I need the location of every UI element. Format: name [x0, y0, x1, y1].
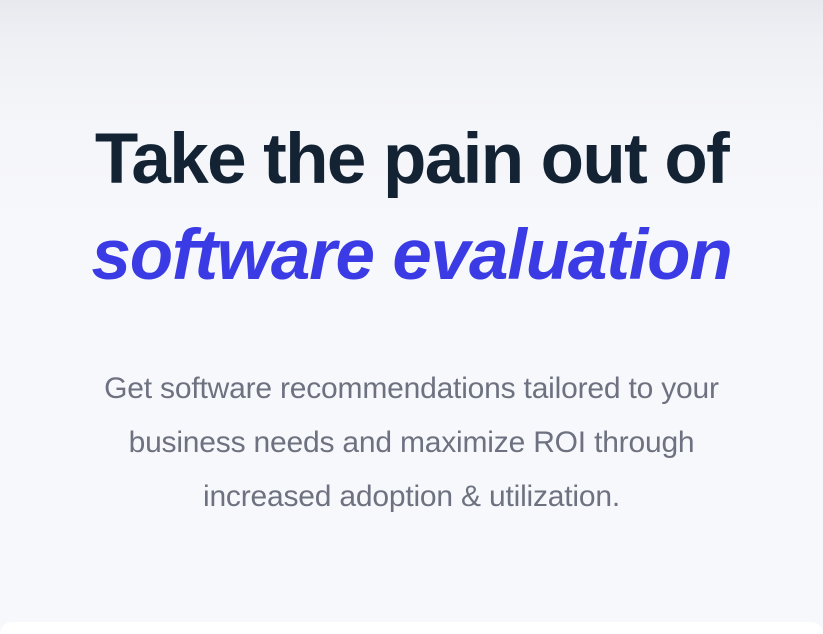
- subcopy-line-2: business needs and maximize ROI through: [0, 416, 823, 470]
- hero-section: Take the pain out of software evaluation…: [0, 0, 823, 634]
- headline-line-accent: software evaluation: [0, 208, 823, 304]
- hero-subcopy: Get software recommendations tailored to…: [0, 304, 823, 524]
- page-title: Take the pain out of software evaluation: [0, 112, 823, 304]
- content-panel-edge: [0, 622, 823, 634]
- subcopy-line-1: Get software recommendations tailored to…: [0, 362, 823, 416]
- hero-content: Take the pain out of software evaluation…: [0, 0, 823, 524]
- headline-line-primary: Take the pain out of: [0, 112, 823, 208]
- subcopy-line-3: increased adoption & utilization.: [0, 470, 823, 524]
